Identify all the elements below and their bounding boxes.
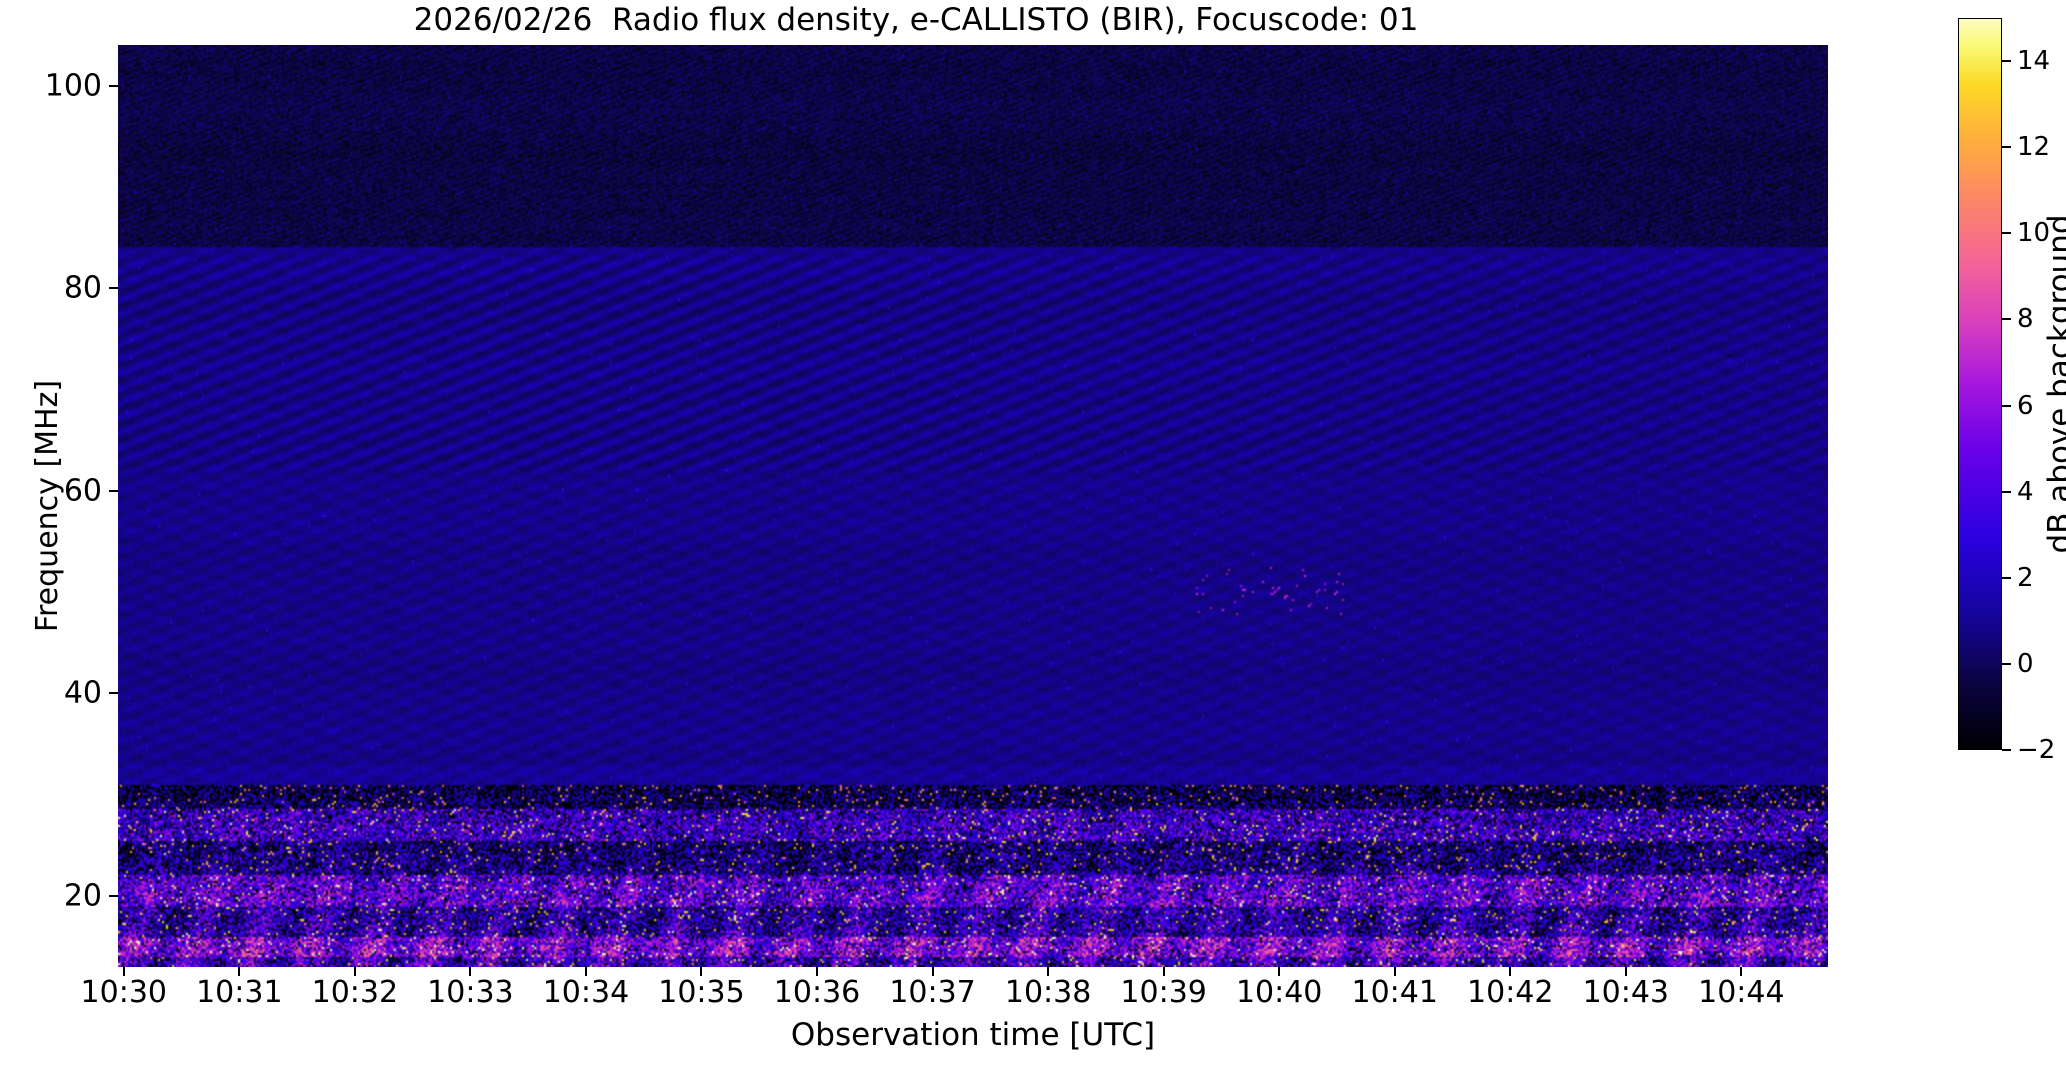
x-tick-label: 10:41 [1351, 975, 1437, 1010]
colorbar-tick-label: 2 [2017, 563, 2034, 593]
colorbar-tick-mark [2002, 232, 2011, 234]
x-tick-mark [1740, 967, 1742, 976]
colorbar-tick-mark [2002, 405, 2011, 407]
x-tick-label: 10:34 [543, 975, 629, 1010]
x-tick-label: 10:44 [1698, 975, 1784, 1010]
y-tick-mark [109, 287, 118, 289]
spectrogram-plot-area[interactable] [118, 45, 1828, 967]
colorbar-tick-label: −2 [2017, 735, 2055, 765]
colorbar-tick-label: 14 [2017, 46, 2050, 76]
spectrogram-image [118, 45, 1828, 967]
x-tick-label: 10:35 [658, 975, 744, 1010]
x-tick-mark [932, 967, 934, 976]
y-tick-label: 80 [12, 271, 102, 306]
y-tick-label: 60 [12, 473, 102, 508]
x-tick-mark [585, 967, 587, 976]
x-tick-label: 10:31 [196, 975, 282, 1010]
x-tick-mark [1509, 967, 1511, 976]
x-tick-label: 10:36 [774, 975, 860, 1010]
x-tick-mark [1163, 967, 1165, 976]
colorbar-tick-mark [2002, 146, 2011, 148]
colorbar-tick-mark [2002, 318, 2011, 320]
x-tick-mark [469, 967, 471, 976]
x-tick-mark [1047, 967, 1049, 976]
y-tick-label: 40 [12, 676, 102, 711]
colorbar-tick-mark [2002, 60, 2011, 62]
y-tick-label: 100 [12, 68, 102, 103]
x-axis-label: Observation time [UTC] [118, 1017, 1828, 1053]
x-tick-mark [1394, 967, 1396, 976]
colorbar-label: dB above background [2042, 214, 2066, 553]
x-tick-label: 10:38 [1005, 975, 1091, 1010]
x-tick-mark [816, 967, 818, 976]
x-tick-label: 10:40 [1236, 975, 1322, 1010]
x-tick-label: 10:43 [1583, 975, 1669, 1010]
colorbar-tick-mark [2002, 749, 2011, 751]
x-tick-label: 10:39 [1120, 975, 1206, 1010]
x-tick-label: 10:32 [312, 975, 398, 1010]
colorbar-tick-mark [2002, 577, 2011, 579]
page-title: 2026/02/26 Radio flux density, e-CALLIST… [0, 2, 1832, 38]
x-tick-mark [1278, 967, 1280, 976]
colorbar-tick-label: 0 [2017, 649, 2034, 679]
x-tick-label: 10:30 [81, 975, 167, 1010]
y-tick-label: 20 [12, 879, 102, 914]
x-tick-label: 10:33 [427, 975, 513, 1010]
colorbar-tick-label: 4 [2017, 477, 2034, 507]
colorbar-tick-mark [2002, 663, 2011, 665]
x-tick-label: 10:37 [889, 975, 975, 1010]
x-tick-label: 10:42 [1467, 975, 1553, 1010]
y-tick-mark [109, 692, 118, 694]
x-tick-mark [123, 967, 125, 976]
colorbar[interactable] [1958, 18, 2002, 750]
y-tick-mark [109, 490, 118, 492]
spectrogram-figure: 2026/02/26 Radio flux density, e-CALLIST… [0, 0, 2066, 1067]
colorbar-tick-label: 12 [2017, 132, 2050, 162]
x-tick-mark [700, 967, 702, 976]
y-tick-mark [109, 85, 118, 87]
y-tick-mark [109, 895, 118, 897]
colorbar-tick-label: 6 [2017, 391, 2034, 421]
x-tick-mark [354, 967, 356, 976]
colorbar-gradient [1958, 18, 2002, 750]
colorbar-tick-label: 8 [2017, 304, 2034, 334]
x-tick-mark [238, 967, 240, 976]
colorbar-tick-mark [2002, 491, 2011, 493]
x-tick-mark [1625, 967, 1627, 976]
